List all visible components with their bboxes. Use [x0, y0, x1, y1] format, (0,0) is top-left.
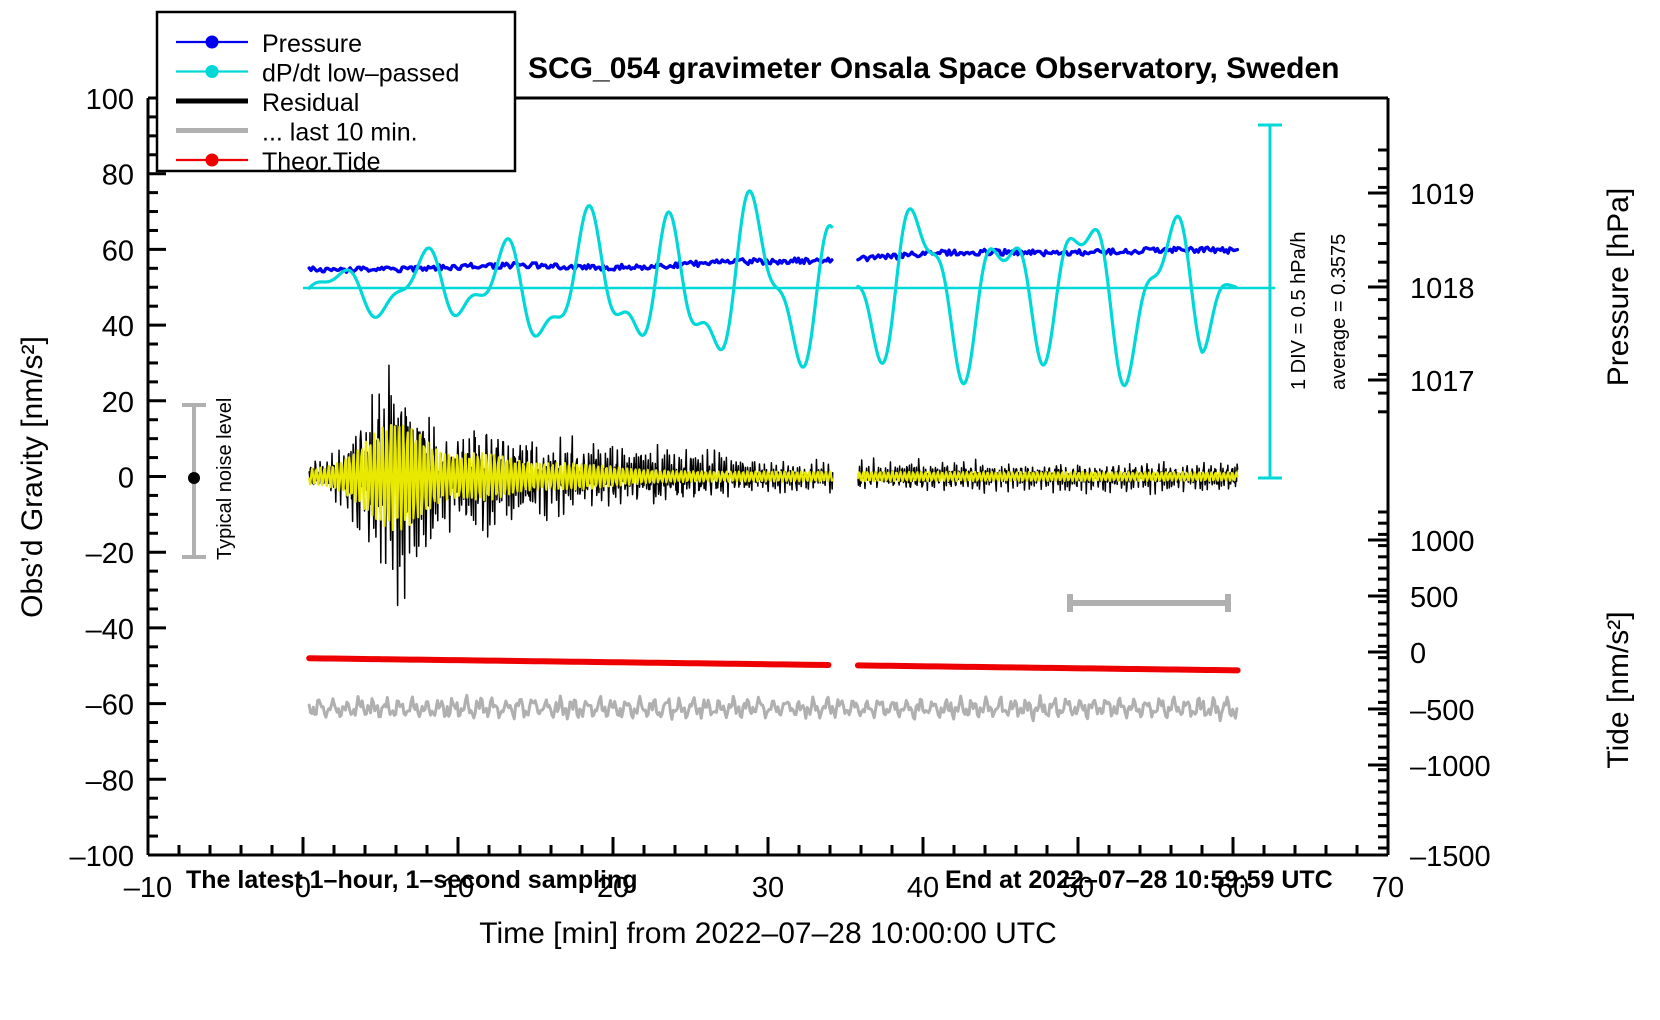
average-label: average = 0.3575: [1328, 234, 1350, 390]
x-tick-label: 70: [1372, 872, 1404, 904]
y-axis-title: Obs’d Gravity [nm/s²]: [16, 336, 49, 618]
plot-title: SCG_054 gravimeter Onsala Space Observat…: [528, 52, 1340, 85]
y-tick-label: 60: [102, 235, 134, 267]
tide-tick-label: –1000: [1410, 751, 1491, 783]
typical-noise-level-label: Typical noise level: [214, 398, 236, 560]
x-axis-title: Time [min] from 2022–07–28 10:00:00 UTC: [479, 917, 1057, 950]
legend-label: dP/dt low–passed: [262, 60, 459, 88]
y-tick-label: –20: [86, 538, 134, 570]
tide-tick-label: 0: [1410, 638, 1426, 670]
sampling-note: The latest 1–hour, 1–second sampling: [186, 866, 638, 894]
tide-axis-title: Tide [nm/s²]: [1602, 611, 1635, 768]
pressure-tick-label: 1018: [1410, 273, 1475, 305]
y-tick-label: 80: [102, 160, 134, 192]
chart-canvas: 100806040200–20–40–60–80–100 –1001020304…: [0, 0, 1660, 1020]
legend-label: Residual: [262, 89, 359, 117]
tide-tick-label: 1000: [1410, 526, 1475, 558]
legend-marker: [206, 65, 219, 78]
tide-tick-label: 500: [1410, 582, 1458, 614]
pressure-axis-title: Pressure [hPa]: [1602, 188, 1635, 386]
tide-tick-label: –1500: [1410, 841, 1491, 873]
div-scale-label: 1 DIV = 0.5 hPa/h: [1288, 232, 1310, 390]
legend-marker: [206, 36, 219, 49]
x-tick-label: –10: [124, 872, 172, 904]
pressure-tick-label: 1019: [1410, 179, 1475, 211]
y-tick-label: –60: [86, 690, 134, 722]
x-tick-label: 40: [907, 872, 939, 904]
gravimeter-plot: 100806040200–20–40–60–80–100 –1001020304…: [0, 0, 1660, 1020]
legend-label: Pressure: [262, 30, 362, 58]
y-tick-label: –80: [86, 765, 134, 797]
tide-tick-label: –500: [1410, 695, 1475, 727]
y-tick-label: –100: [69, 841, 134, 873]
y-tick-label: 0: [118, 463, 134, 495]
y-tick-label: –40: [86, 614, 134, 646]
pressure-tick-label: 1017: [1410, 366, 1475, 398]
legend-label: ... last 10 min.: [262, 119, 418, 147]
x-tick-label: 30: [752, 872, 784, 904]
y-tick-label: 20: [102, 387, 134, 419]
y-tick-label: 40: [102, 311, 134, 343]
legend-label: Theor.Tide: [262, 148, 381, 176]
legend[interactable]: PressuredP/dt low–passedResidual... last…: [157, 12, 515, 176]
end-note: End at 2022–07–28 10:59:59 UTC: [945, 866, 1333, 894]
y-tick-label: 100: [86, 84, 134, 116]
legend-marker: [206, 154, 219, 167]
